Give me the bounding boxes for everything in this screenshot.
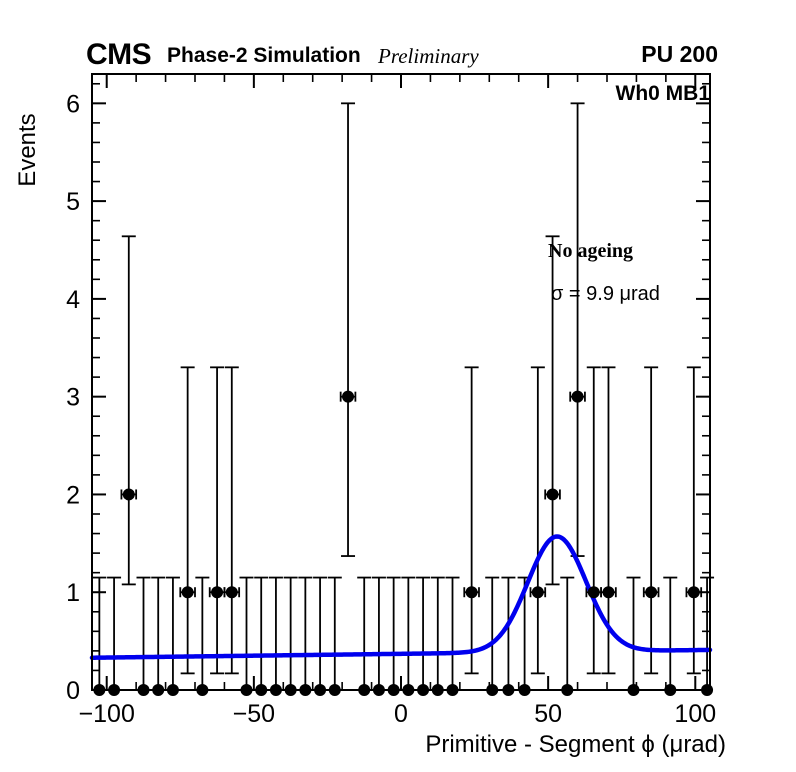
y-tick-label: 5 <box>66 188 80 216</box>
data-point-marker <box>182 586 194 598</box>
x-tick-label: 100 <box>674 700 716 728</box>
data-point-marker <box>342 391 354 403</box>
data-point-marker <box>645 586 657 598</box>
plot-canvas: CMS Phase-2 Simulation Preliminary PU 20… <box>0 0 796 772</box>
data-point-marker <box>466 586 478 598</box>
x-tick-label: 50 <box>534 700 562 728</box>
y-tick-label: 0 <box>66 677 80 705</box>
plot-frame-rect <box>92 74 710 690</box>
x-tick-label: 0 <box>394 700 408 728</box>
data-point-marker <box>123 488 135 500</box>
y-tick-label: 3 <box>66 384 80 412</box>
data-point-marker <box>532 586 544 598</box>
plot-frame-rect-overlay <box>92 74 710 690</box>
y-axis-ticks <box>92 84 710 690</box>
x-tick-label: −100 <box>79 700 135 728</box>
data-point-marker <box>547 488 559 500</box>
plot-area: −100−500501000123456 <box>0 0 796 772</box>
y-tick-label: 6 <box>66 90 80 118</box>
data-point-marker <box>226 586 238 598</box>
tick-labels: −100−500501000123456 <box>66 90 716 728</box>
data-point-marker <box>211 586 223 598</box>
y-tick-label: 4 <box>66 286 80 314</box>
data-point-marker <box>588 586 600 598</box>
x-tick-label: −50 <box>233 700 275 728</box>
error-bars <box>92 103 714 690</box>
y-tick-label: 1 <box>66 579 80 607</box>
data-point-marker <box>688 586 700 598</box>
data-markers <box>92 74 713 696</box>
axis-frame <box>92 74 710 690</box>
data-point-marker <box>572 391 584 403</box>
y-tick-label: 2 <box>66 481 80 509</box>
data-point-marker <box>602 586 614 598</box>
